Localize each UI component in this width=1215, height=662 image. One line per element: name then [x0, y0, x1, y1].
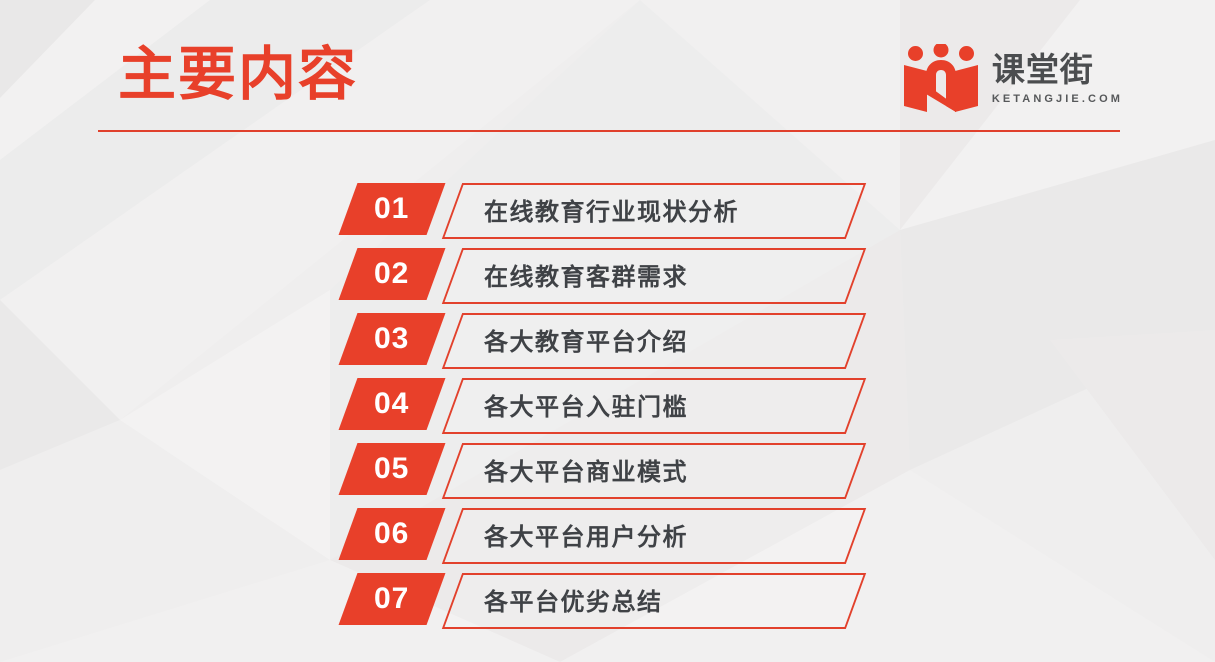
- logo-name-cn: 课堂街: [992, 53, 1123, 88]
- agenda-list: 01 在线教育行业现状分析 02 在线教育客群需求 03 各大教育平台介绍 04…: [0, 183, 1215, 638]
- agenda-title-label: 在线教育客群需求: [484, 248, 688, 300]
- agenda-item-05[interactable]: 05 各大平台商业模式: [0, 443, 1215, 495]
- agenda-number-label: 02: [374, 259, 409, 289]
- agenda-item-06[interactable]: 06 各大平台用户分析: [0, 508, 1215, 560]
- agenda-number-label: 05: [374, 454, 409, 484]
- ketangjie-logo-mark-icon: [902, 44, 980, 114]
- agenda-number-badge: 04: [339, 378, 446, 430]
- agenda-title-label: 各大平台入驻门槛: [484, 378, 688, 430]
- agenda-number-label: 06: [374, 519, 409, 549]
- logo-text-block: 课堂街 KETANGJIE.COM: [992, 53, 1123, 105]
- agenda-title-label: 各大平台商业模式: [484, 443, 688, 495]
- agenda-item-03[interactable]: 03 各大教育平台介绍: [0, 313, 1215, 365]
- agenda-number-badge: 01: [339, 183, 446, 235]
- agenda-number-label: 07: [374, 584, 409, 614]
- brand-logo: 课堂街 KETANGJIE.COM: [902, 44, 1123, 114]
- agenda-number-badge: 02: [339, 248, 446, 300]
- agenda-item-07[interactable]: 07 各平台优劣总结: [0, 573, 1215, 625]
- agenda-number-badge: 05: [339, 443, 446, 495]
- agenda-number-label: 03: [374, 324, 409, 354]
- slide-canvas: 主要内容 课堂街 KETANGJIE.COM 01: [0, 0, 1215, 662]
- agenda-number-badge: 03: [339, 313, 446, 365]
- agenda-item-02[interactable]: 02 在线教育客群需求: [0, 248, 1215, 300]
- agenda-title-label: 在线教育行业现状分析: [484, 183, 739, 235]
- agenda-title-label: 各平台优劣总结: [484, 573, 663, 625]
- agenda-number-label: 04: [374, 389, 409, 419]
- page-title: 主要内容: [118, 42, 358, 109]
- agenda-item-04[interactable]: 04 各大平台入驻门槛: [0, 378, 1215, 430]
- agenda-number-badge: 07: [339, 573, 446, 625]
- agenda-number-label: 01: [374, 194, 409, 224]
- header-divider: [98, 130, 1120, 132]
- logo-name-en: KETANGJIE.COM: [992, 93, 1123, 105]
- agenda-item-01[interactable]: 01 在线教育行业现状分析: [0, 183, 1215, 235]
- agenda-number-badge: 06: [339, 508, 446, 560]
- agenda-title-label: 各大平台用户分析: [484, 508, 688, 560]
- agenda-title-label: 各大教育平台介绍: [484, 313, 688, 365]
